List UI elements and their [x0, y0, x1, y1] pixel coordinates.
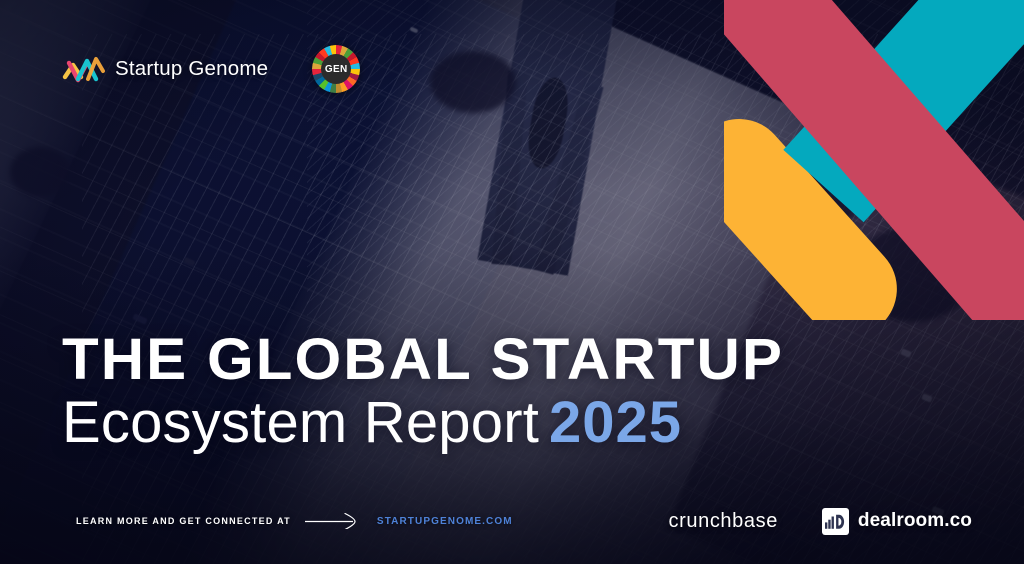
cover-header: Startup Genome GEN	[62, 45, 360, 93]
crunchbase-wordmark[interactable]: crunchbase	[669, 510, 778, 533]
report-cover: Startup Genome GEN THE GLOBAL STARTUP Ec…	[0, 0, 1024, 564]
startupgenome-url[interactable]: STARTUPGENOME.COM	[377, 516, 513, 527]
gen-badge[interactable]: GEN	[312, 45, 360, 93]
long-arrow-right-icon	[305, 513, 363, 529]
learn-more-text: LEARN MORE AND GET CONNECTED AT	[76, 516, 291, 526]
report-year: 2025	[549, 390, 682, 455]
gen-badge-label: GEN	[325, 64, 348, 75]
cover-title-block: THE GLOBAL STARTUP Ecosystem Report2025	[62, 330, 760, 453]
report-title-line-2: Ecosystem Report2025	[62, 393, 760, 453]
report-subtitle-text: Ecosystem Report	[62, 390, 539, 455]
footer-cta-group: LEARN MORE AND GET CONNECTED AT STARTUPG…	[76, 513, 513, 529]
dealroom-logo[interactable]: dealroom.co	[822, 508, 972, 535]
dealroom-bar-chart-d-icon	[822, 508, 849, 535]
startup-genome-brand[interactable]: Startup Genome	[62, 51, 268, 87]
startup-genome-wordmark: Startup Genome	[115, 57, 268, 81]
gen-badge-core: GEN	[321, 54, 351, 84]
report-title-line-1: THE GLOBAL STARTUP	[62, 330, 784, 389]
cover-footer: LEARN MORE AND GET CONNECTED AT STARTUPG…	[0, 506, 1024, 536]
startup-genome-chevron-logo-icon	[62, 51, 106, 87]
partner-logos: crunchbase dealroom.co	[669, 508, 972, 535]
dealroom-wordmark: dealroom.co	[858, 510, 972, 532]
